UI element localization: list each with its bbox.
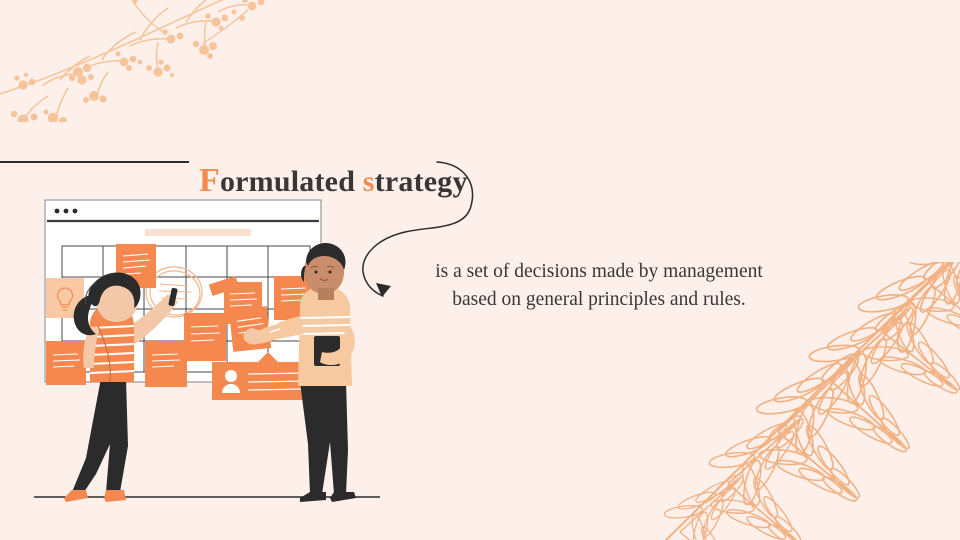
body-text-line-1: is a set of decisions made by management xyxy=(400,258,798,286)
person-woman xyxy=(64,273,178,502)
note-mid-center xyxy=(184,313,226,361)
note-bottom-center xyxy=(145,341,187,387)
note-bottom-left xyxy=(46,341,86,385)
slide-canvas: Formulated strategy is a set of decision… xyxy=(0,0,960,540)
page-title-initial: F xyxy=(199,162,220,199)
berry-branch-decoration xyxy=(0,0,290,122)
title-divider-rule xyxy=(0,161,189,163)
planning-board-illustration xyxy=(28,196,394,506)
body-text: is a set of decisions made by management… xyxy=(400,258,798,315)
body-text-line-2: based on general principles and rules. xyxy=(400,286,798,314)
